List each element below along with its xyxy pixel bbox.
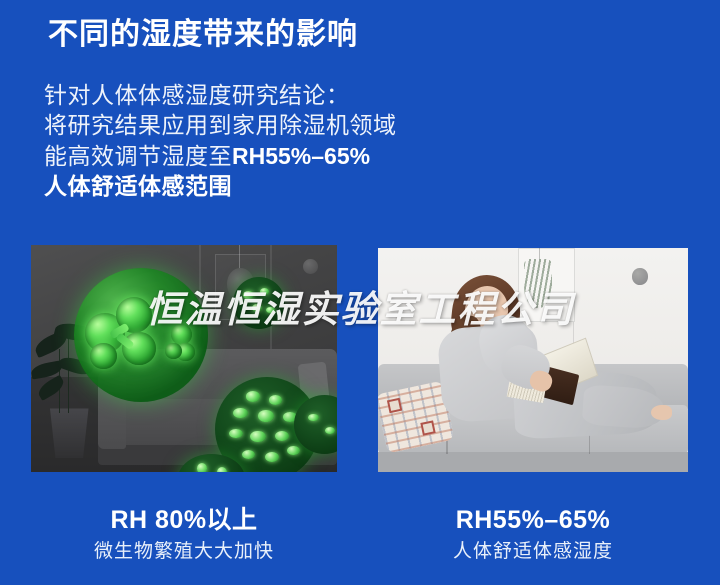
caption-right-subtitle: 人体舒适体感湿度 xyxy=(378,540,688,564)
left-plant-stem-1 xyxy=(68,336,70,413)
virus-spike-e2 xyxy=(325,427,335,434)
bacteria-ball-4 xyxy=(90,343,117,370)
person-foot xyxy=(651,405,673,421)
intro-line-4: 人体舒适体感范围 xyxy=(44,171,514,201)
caption-comfort-humidity: RH55%–65% 人体舒适体感湿度 xyxy=(378,505,688,564)
virus-spike-d xyxy=(266,307,274,313)
caption-right-title: RH55%–65% xyxy=(378,505,688,535)
virus-spike-b xyxy=(260,288,269,295)
bacteria-ball-7 xyxy=(165,343,181,359)
virus-spike-9 xyxy=(242,450,256,459)
caption-high-humidity: RH 80%以上 微生物繁殖大大加快 xyxy=(31,505,337,564)
virus-spike-a xyxy=(243,291,253,299)
photo-comfort-humidity xyxy=(378,248,688,472)
intro-line-3: 能高效调节湿度至RH55%–65% xyxy=(44,141,514,171)
bacteria-cluster-large xyxy=(74,268,209,402)
page-title: 不同的湿度带来的影响 xyxy=(48,18,358,53)
virus-spike-c xyxy=(252,304,262,312)
photo-high-humidity xyxy=(31,245,337,472)
virus-spike-8 xyxy=(275,431,290,441)
virus-spike-f2 xyxy=(217,467,227,472)
virus-spike-3 xyxy=(233,408,248,418)
caption-left-title: RH 80%以上 xyxy=(31,505,337,535)
virus-sphere-small xyxy=(233,277,285,329)
intro-line-1: 针对人体体感湿度研究结论： xyxy=(44,80,514,110)
intro-text-block: 针对人体体感湿度研究结论： 将研究结果应用到家用除湿机领域 能高效调节湿度至RH… xyxy=(44,80,514,201)
left-wall-knob xyxy=(303,259,318,274)
virus-spike-e1 xyxy=(308,414,319,422)
intro-line-3-plain: 能高效调节湿度至 xyxy=(44,143,232,169)
virus-spike-1 xyxy=(246,391,261,401)
virus-spike-11 xyxy=(287,446,299,455)
intro-line-3-humidity-range: RH55%–65% xyxy=(232,143,370,169)
virus-spike-4 xyxy=(258,410,274,421)
poster-root: 不同的湿度带来的影响 针对人体体感湿度研究结论： 将研究结果应用到家用除湿机领域… xyxy=(0,0,720,585)
intro-line-2: 将研究结果应用到家用除湿机领域 xyxy=(44,110,514,140)
right-person xyxy=(378,248,688,472)
virus-spike-6 xyxy=(229,429,243,438)
virus-spike-7 xyxy=(250,431,266,442)
virus-spike-f1 xyxy=(197,463,208,472)
caption-left-subtitle: 微生物繁殖大大加快 xyxy=(31,540,337,564)
virus-spike-2 xyxy=(269,395,283,404)
virus-spike-10 xyxy=(265,452,280,462)
